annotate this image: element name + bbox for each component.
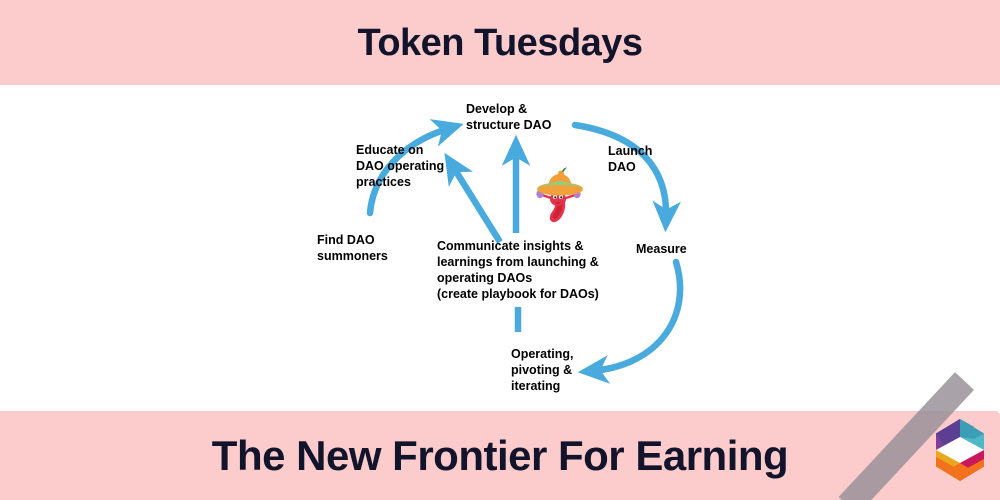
dao-lifecycle-diagram: Develop & structure DAO Educate on DAO o… <box>0 85 1000 411</box>
arrow-measure-to-operating <box>592 262 680 371</box>
diagram-node-operating: Operating, pivoting & iterating <box>511 346 574 394</box>
diagram-node-develop: Develop & structure DAO <box>466 101 551 133</box>
chili-pepper-sombrero-icon <box>528 165 594 231</box>
diagram-node-educate: Educate on DAO operating practices <box>356 142 444 190</box>
hexagon-brand-logo-icon <box>934 417 986 483</box>
arrow-communicate-to-educate <box>452 165 500 242</box>
diagram-node-find-summoners: Find DAO summoners <box>317 232 388 264</box>
top-banner: Token Tuesdays <box>0 0 1000 85</box>
page-title: Token Tuesdays <box>357 24 642 62</box>
diagram-node-measure: Measure <box>636 241 687 257</box>
tagline: The New Frontier For Earning <box>212 435 788 477</box>
diagram-node-communicate: Communicate insights & learnings from la… <box>437 238 599 302</box>
diagram-node-launch: Launch DAO <box>608 143 652 175</box>
slide-canvas: Token Tuesdays Develop & structure DAO <box>0 0 1000 500</box>
